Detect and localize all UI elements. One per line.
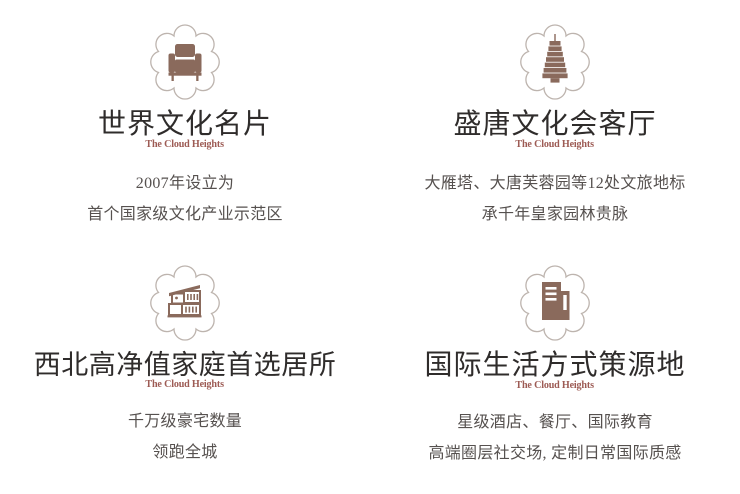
card-body-line: 领跑全城 bbox=[128, 437, 242, 468]
feature-card-luxury-residence: 西北高净值家庭首选居所 The Cloud Heights 千万级豪宅数量 领跑… bbox=[0, 247, 370, 494]
buildings-icon bbox=[507, 259, 603, 347]
card-heading: 世界文化名片 bbox=[98, 110, 272, 140]
card-body: 2007年设立为 首个国家级文化产业示范区 bbox=[87, 168, 283, 230]
feature-highlights-board: 世界文化名片 The Cloud Heights 2007年设立为 首个国家级文… bbox=[0, 0, 740, 494]
card-sublogo: The Cloud Heights bbox=[516, 379, 594, 391]
card-body: 千万级豪宅数量 领跑全城 bbox=[128, 406, 242, 468]
feature-card-tang-culture: 盛唐文化会客厅 The Cloud Heights 大雁塔、大唐芙蓉园等12处文… bbox=[370, 0, 740, 247]
feature-card-world-culture: 世界文化名片 The Cloud Heights 2007年设立为 首个国家级文… bbox=[0, 0, 370, 247]
card-body-line: 高端圈层社交场, 定制日常国际质感 bbox=[428, 438, 681, 469]
card-heading: 国际生活方式策源地 bbox=[424, 351, 685, 381]
card-body-line: 首个国家级文化产业示范区 bbox=[87, 199, 283, 230]
card-sublogo: The Cloud Heights bbox=[516, 138, 594, 150]
card-body: 大雁塔、大唐芙蓉园等12处文旅地标 承千年皇家园林贵脉 bbox=[424, 168, 685, 230]
feature-cards-grid: 世界文化名片 The Cloud Heights 2007年设立为 首个国家级文… bbox=[0, 0, 740, 494]
card-heading: 西北高净值家庭首选居所 bbox=[34, 351, 337, 380]
card-body-line: 承千年皇家园林贵脉 bbox=[424, 199, 685, 230]
card-sublogo: The Cloud Heights bbox=[146, 378, 224, 390]
card-sublogo: The Cloud Heights bbox=[146, 138, 224, 150]
card-body-line: 大雁塔、大唐芙蓉园等12处文旅地标 bbox=[424, 168, 685, 199]
feature-card-international-lifestyle: 国际生活方式策源地 The Cloud Heights 星级酒店、餐厅、国际教育… bbox=[370, 247, 740, 494]
villa-icon bbox=[137, 259, 233, 347]
pagoda-icon bbox=[507, 18, 603, 106]
armchair-icon bbox=[137, 18, 233, 106]
card-body-line: 星级酒店、餐厅、国际教育 bbox=[428, 407, 681, 438]
card-body: 星级酒店、餐厅、国际教育 高端圈层社交场, 定制日常国际质感 bbox=[428, 407, 681, 469]
card-body-line: 千万级豪宅数量 bbox=[128, 406, 242, 437]
card-body-line: 2007年设立为 bbox=[87, 168, 283, 199]
card-heading: 盛唐文化会客厅 bbox=[453, 110, 656, 140]
